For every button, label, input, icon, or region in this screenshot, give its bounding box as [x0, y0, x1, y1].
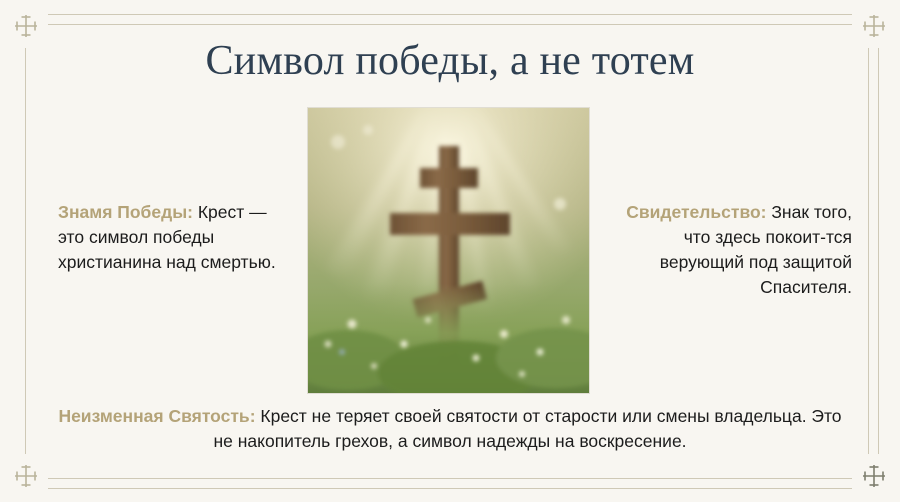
- cross-ornament-icon-bottom-right: [859, 461, 889, 491]
- frame-line-bottom-inner: [48, 478, 852, 479]
- frame-line-right-inner: [868, 48, 869, 454]
- frame-line-top-inner: [48, 24, 852, 25]
- frame-line-top-outer: [48, 14, 852, 15]
- frame-line-left: [25, 48, 26, 454]
- cross-ornament-icon-top-right: [859, 11, 889, 41]
- text-block-right: Свидетельство: Знак того, что здесь поко…: [604, 200, 852, 299]
- slide-root: Символ победы, а не тотем: [0, 0, 900, 502]
- text-block-left: Знамя Победы: Крест — это символ победы …: [58, 200, 296, 275]
- cross-ornament-icon-top-left: [11, 11, 41, 41]
- text-block-bottom: Неизменная Святость: Крест не теряет сво…: [48, 404, 852, 455]
- slide-title: Символ победы, а не тотем: [0, 38, 900, 84]
- text-block-left-label: Знамя Победы:: [58, 202, 193, 222]
- text-block-bottom-label: Неизменная Святость:: [58, 406, 255, 426]
- text-block-bottom-body: Крест не теряет своей святости от старос…: [213, 406, 841, 451]
- frame-line-bottom-outer: [48, 488, 852, 489]
- text-block-right-label: Свидетельство:: [626, 202, 766, 222]
- frame-line-right-outer: [878, 48, 879, 454]
- cross-photo: [308, 108, 589, 393]
- cross-ornament-icon-bottom-left: [11, 461, 41, 491]
